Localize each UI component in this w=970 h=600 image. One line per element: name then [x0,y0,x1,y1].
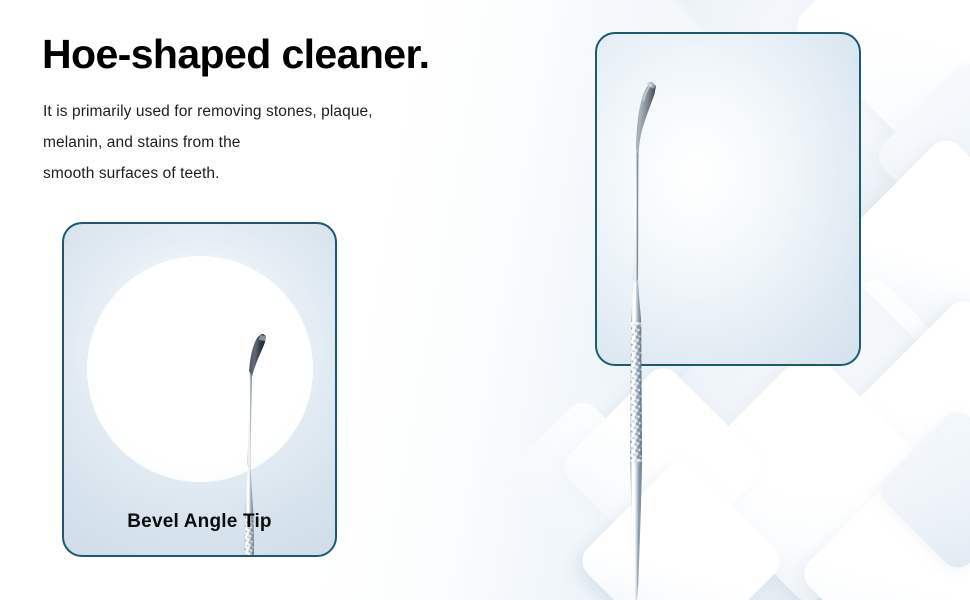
dental-hoe-scaler-full-icon [586,30,696,600]
description-line: smooth surfaces of teeth. [43,158,513,189]
detail-card-label: Bevel Angle Tip [64,511,335,533]
description-line: melanin, and stains from the [43,127,513,158]
detail-card: Bevel Angle Tip [62,222,337,557]
description-line: It is primarily used for removing stones… [43,96,513,127]
page-title: Hoe-shaped cleaner. [42,32,429,77]
description-text: It is primarily used for removing stones… [43,96,513,189]
poster-canvas: Hoe-shaped cleaner. It is primarily used… [0,0,970,600]
